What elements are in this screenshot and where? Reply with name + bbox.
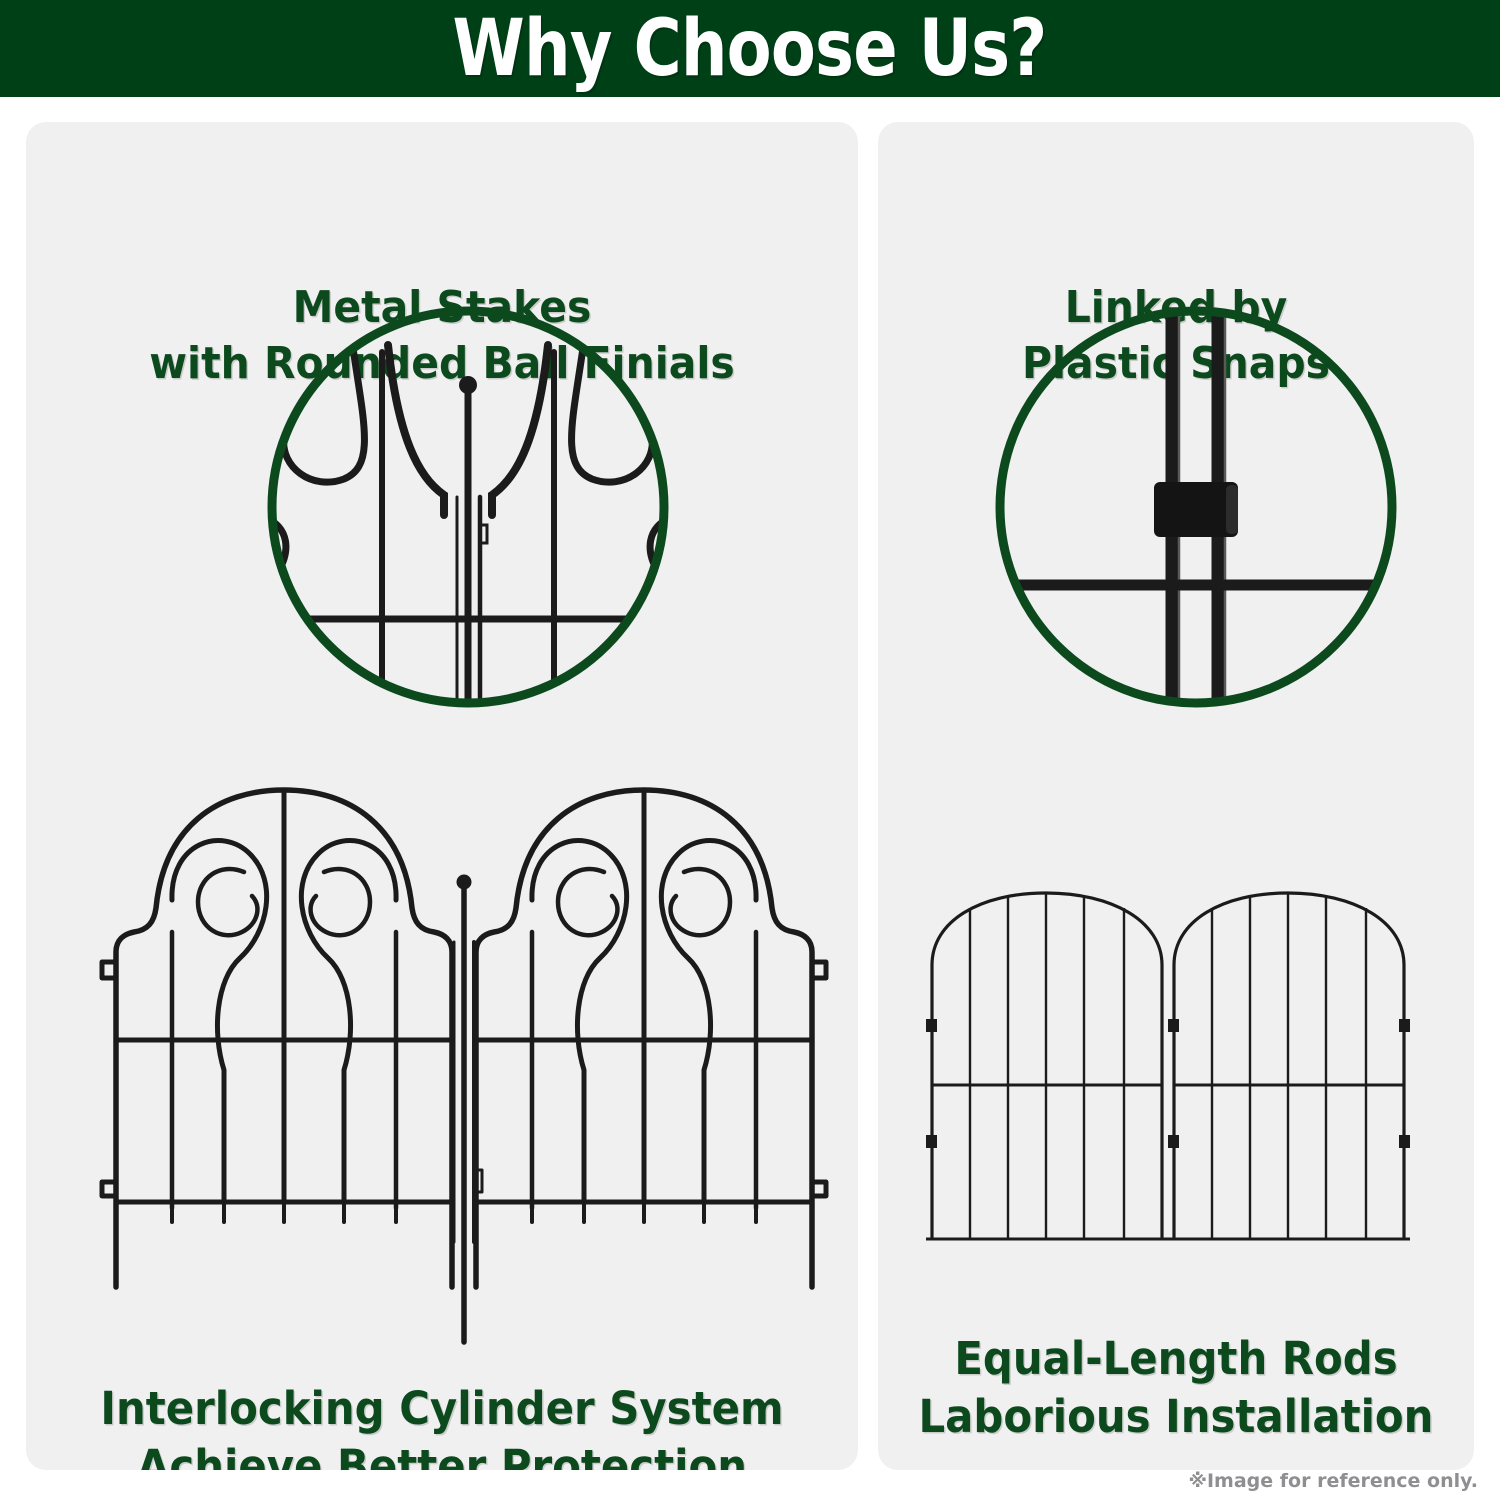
update-caption-line2: Achieve Better Protection	[55, 1438, 829, 1470]
plastic-snap-detail-circle	[986, 297, 1406, 717]
header-banner: Why Choose Us?	[0, 0, 1500, 97]
update-panel-card: Metal Stakes with Rounded Ball Finials	[26, 122, 858, 1470]
update-panel-caption: Interlocking Cylinder System Achieve Bet…	[55, 1380, 829, 1470]
original-panel-caption: Equal-Length Rods Laborious Installation	[899, 1330, 1453, 1446]
reference-disclaimer: ※Image for reference only.	[1189, 1470, 1478, 1492]
original-caption-line1: Equal-Length Rods	[899, 1330, 1453, 1388]
page-title: Why Choose Us?	[453, 7, 1047, 91]
original-caption-line2: Laborious Installation	[899, 1388, 1453, 1446]
plain-fence-illustration	[918, 887, 1438, 1267]
update-caption-line1: Interlocking Cylinder System	[55, 1380, 829, 1438]
original-panel-card: Linked by Plastic Snaps	[878, 122, 1474, 1470]
ball-finial-detail-circle	[258, 297, 678, 717]
ornate-fence-illustration	[72, 782, 832, 1352]
